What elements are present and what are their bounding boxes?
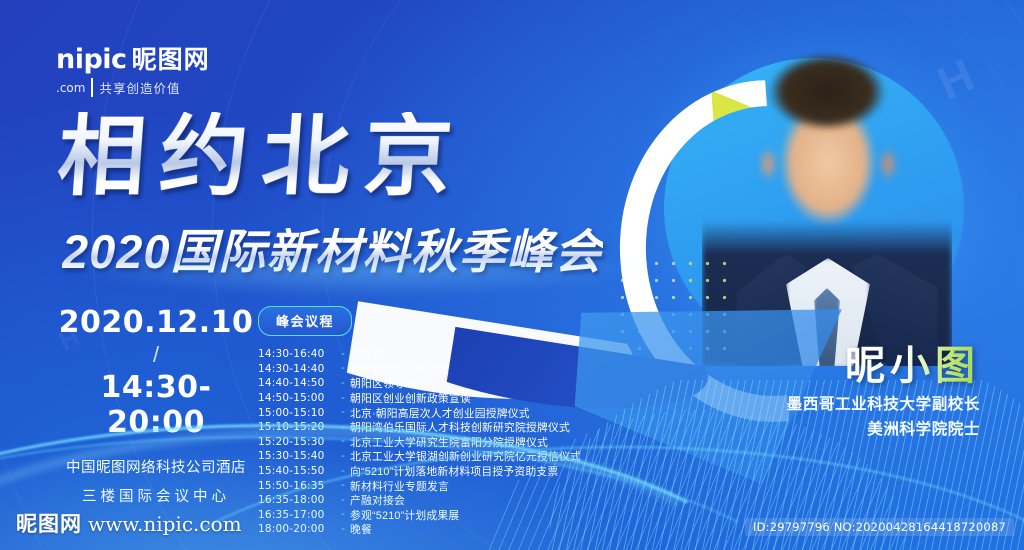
logo-primary-row: nipic 昵图网 bbox=[56, 40, 210, 76]
logo-cn-text: 昵图网 bbox=[132, 40, 210, 76]
footer-brand-cn: 昵图网 bbox=[16, 508, 82, 538]
agenda-badge: 峰会议程 bbox=[258, 306, 352, 336]
footer-id-watermark: ID:29797796 NO:20200428164418720087 bbox=[745, 518, 1014, 536]
agenda-row-text: 开幕式 bbox=[350, 346, 383, 362]
agenda-row-dash-icon: - bbox=[336, 349, 350, 360]
event-date: 2020.12.10 bbox=[58, 305, 254, 340]
logo-en-text: nipic bbox=[56, 44, 127, 75]
agenda-row-time: 14:30-16:40 bbox=[258, 348, 336, 360]
footer-brand-url: www.nipic.com bbox=[88, 512, 242, 536]
nipic-logo: nipic 昵图网 .com 共享创造价值 bbox=[56, 40, 210, 97]
logo-slogan-text: 共享创造价值 bbox=[91, 78, 180, 97]
agenda-row-time: 14:30-14:40 bbox=[258, 363, 336, 375]
agenda-row: 14:30-16:40-开幕式 bbox=[258, 347, 678, 362]
poster-canvas: H H H nipic 昵图网 .com 共享创造价值 相约北京 2020国际新… bbox=[0, 0, 1024, 550]
logo-dotcom-text: .com bbox=[56, 81, 85, 95]
date-time-separator-icon: / bbox=[58, 342, 254, 368]
agenda-row-text: 观看朝阳区介绍视频 bbox=[350, 361, 449, 377]
agenda-row-dash-icon: - bbox=[336, 363, 350, 374]
logo-secondary-row: .com 共享创造价值 bbox=[56, 78, 210, 97]
subheadline-glow bbox=[60, 264, 660, 298]
agenda-row: 14:30-14:40-观看朝阳区介绍视频 bbox=[258, 362, 678, 377]
footer-brand: 昵图网 www.nipic.com bbox=[16, 508, 242, 538]
main-headline: 相约北京 bbox=[55, 112, 469, 200]
